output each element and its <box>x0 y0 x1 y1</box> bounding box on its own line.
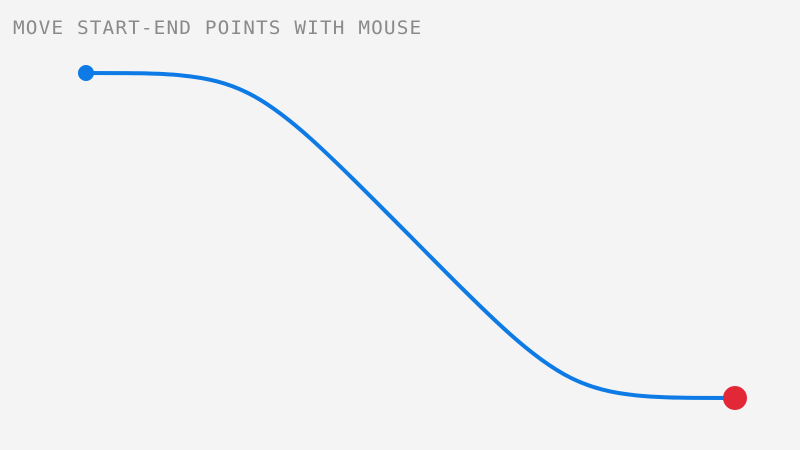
start-point-handle[interactable] <box>78 65 94 81</box>
bezier-curve <box>86 73 735 398</box>
canvas-stage[interactable]: MOVE START-END POINTS WITH MOUSE <box>0 0 800 450</box>
page-title: MOVE START-END POINTS WITH MOUSE <box>13 17 422 39</box>
bezier-canvas[interactable] <box>0 0 800 450</box>
end-point-handle[interactable] <box>723 386 747 410</box>
